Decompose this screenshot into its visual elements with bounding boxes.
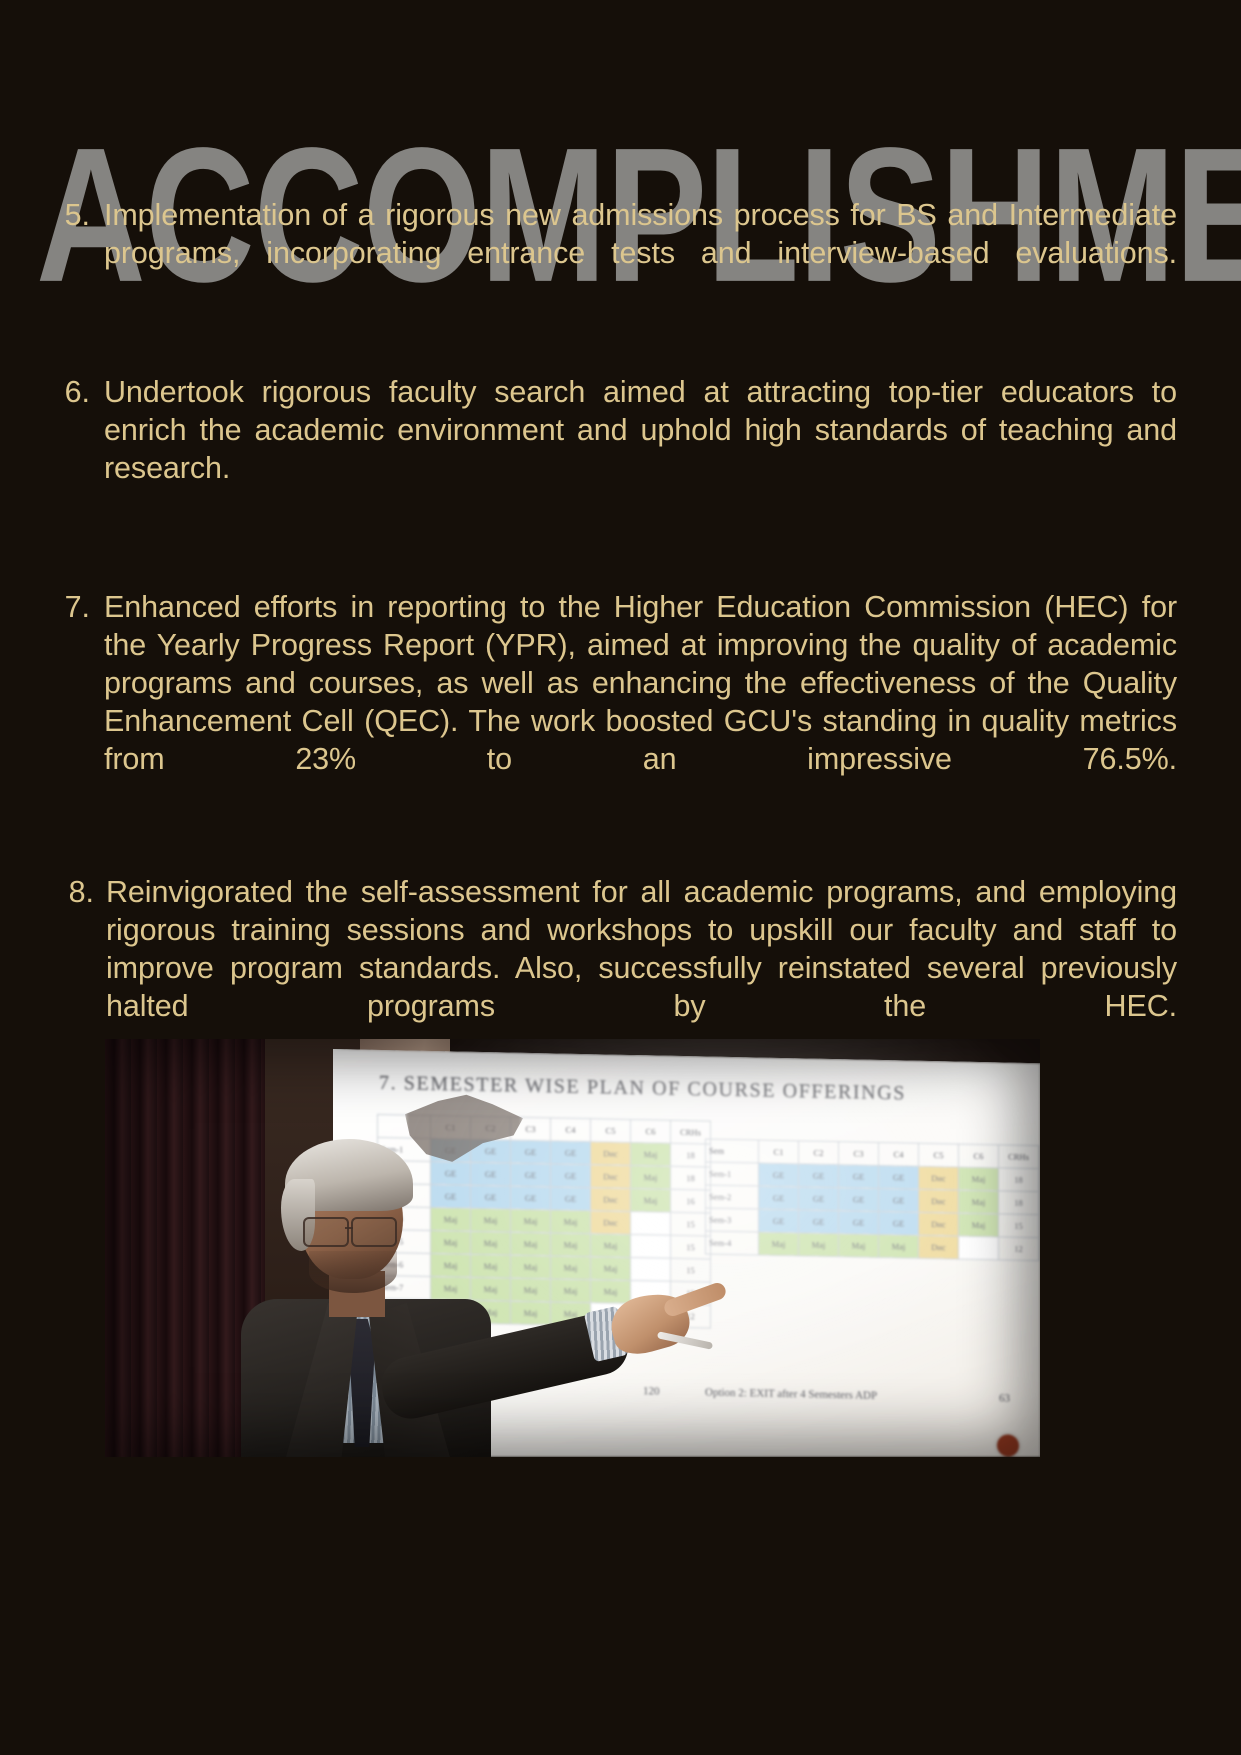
list-item-text: Reinvigorated the self-assessment for al…: [106, 873, 1177, 1063]
cell: GE: [839, 1165, 879, 1189]
cell: [959, 1236, 999, 1260]
cell: 18: [999, 1168, 1039, 1192]
cell: 18: [999, 1191, 1039, 1215]
cell: Maj: [759, 1232, 799, 1256]
slide-page: ACCOMPLISHMENTS 5. Implementation of a r…: [0, 0, 1241, 1755]
col-head: Sem: [706, 1139, 759, 1163]
cell: GE: [759, 1163, 799, 1187]
cell: GE: [799, 1210, 839, 1234]
cell: Maj: [959, 1213, 999, 1237]
accomplishments-list: 5. Implementation of a rigorous new admi…: [0, 196, 1241, 1126]
cell: [631, 1211, 671, 1235]
cell: Maj: [879, 1234, 919, 1258]
row-label: Sem-4: [706, 1231, 759, 1255]
row-label: Sem-2: [706, 1185, 759, 1209]
cell: 15: [671, 1258, 711, 1282]
cell: GE: [839, 1188, 879, 1212]
cell: GE: [879, 1211, 919, 1235]
cell: GE: [839, 1211, 879, 1235]
cell: [631, 1234, 671, 1258]
list-item-number: 7.: [56, 588, 104, 626]
list-item-number: 5.: [56, 196, 104, 234]
col-head: C5: [919, 1143, 959, 1167]
eyeglasses-right-lens: [351, 1217, 397, 1247]
col-head: C3: [839, 1142, 879, 1166]
presentation-photo: 7. SEMESTER WISE PLAN OF COURSE OFFERING…: [105, 1039, 1040, 1457]
list-item-text: Undertook rigorous faculty search aimed …: [104, 373, 1177, 525]
caption-value: 120: [643, 1385, 660, 1397]
slide-table-right: Sem C1 C2 C3 C4 C5 C6 CRHs Sem-1 GE GE: [705, 1138, 1039, 1261]
col-head: C1: [759, 1140, 799, 1164]
list-item-text: Enhanced efforts in reporting to the Hig…: [104, 588, 1177, 816]
row-label: Sem-3: [706, 1208, 759, 1232]
cell: Maj: [631, 1165, 671, 1189]
cell: Dис: [919, 1212, 959, 1236]
list-item: 6. Undertook rigorous faculty search aim…: [0, 373, 1241, 525]
col-head: C2: [799, 1141, 839, 1165]
speaker-figure: [193, 1131, 613, 1457]
cell: GE: [799, 1187, 839, 1211]
col-head: C6: [631, 1119, 671, 1143]
cell: Maj: [959, 1190, 999, 1214]
list-item: 7. Enhanced efforts in reporting to the …: [0, 588, 1241, 816]
cell: 15: [999, 1214, 1039, 1238]
cell: Dис: [919, 1189, 959, 1213]
cell: GE: [879, 1188, 919, 1212]
cell: GE: [759, 1186, 799, 1210]
eyeglasses-bridge: [345, 1227, 353, 1229]
cell: Maj: [631, 1188, 671, 1212]
cell: GE: [879, 1165, 919, 1189]
cell: 12: [999, 1237, 1039, 1261]
list-item: 5. Implementation of a rigorous new admi…: [0, 196, 1241, 310]
caption-value: 63: [999, 1392, 1010, 1404]
col-head: C4: [879, 1142, 919, 1166]
cell: Maj: [839, 1234, 879, 1258]
beard: [309, 1251, 397, 1293]
cell: GE: [799, 1164, 839, 1188]
institution-logo: [997, 1434, 1019, 1456]
eyeglasses-left-lens: [303, 1217, 349, 1247]
col-head: C6: [959, 1144, 999, 1168]
list-item-number: 8.: [56, 873, 106, 911]
row-label: Sem-1: [706, 1162, 759, 1186]
list-item: 8. Reinvigorated the self-assessment for…: [0, 873, 1241, 1063]
list-item-number: 6.: [56, 373, 104, 411]
cell: Maj: [631, 1142, 671, 1166]
list-item-text: Implementation of a rigorous new admissi…: [104, 196, 1177, 310]
cell: Maj: [959, 1167, 999, 1191]
col-head: CRHs: [999, 1145, 1039, 1169]
photo-canvas: 7. SEMESTER WISE PLAN OF COURSE OFFERING…: [105, 1039, 1040, 1457]
cell: Dис: [919, 1166, 959, 1190]
cell: GE: [759, 1209, 799, 1233]
cell: [631, 1257, 671, 1281]
cell: Maj: [799, 1233, 839, 1257]
cell: Dис: [919, 1235, 959, 1259]
